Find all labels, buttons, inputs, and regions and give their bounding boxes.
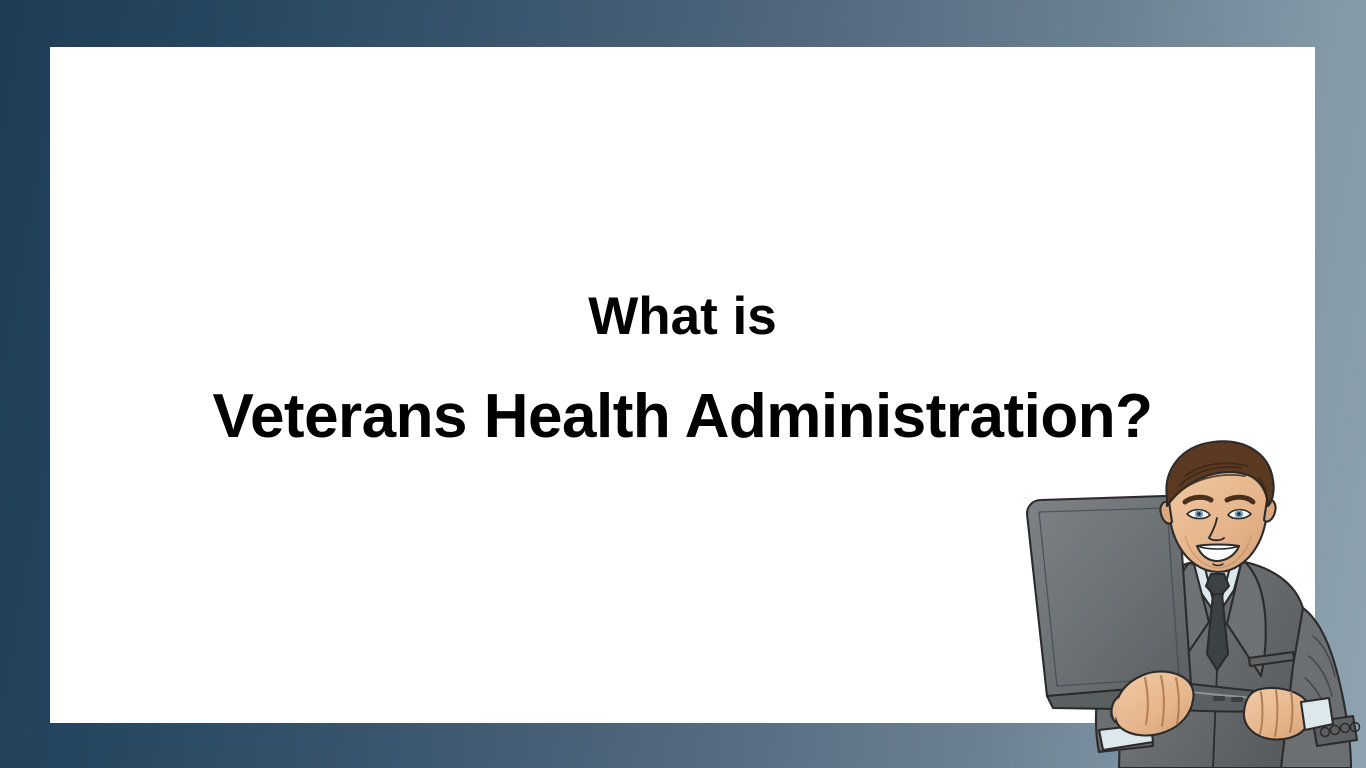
- slide-root: What is Veterans Health Administration?: [0, 0, 1366, 768]
- businessman-with-laptop-illustration: [1013, 440, 1366, 768]
- title-line-primary: What is: [50, 290, 1315, 343]
- title-line-secondary: Veterans Health Administration?: [50, 386, 1315, 448]
